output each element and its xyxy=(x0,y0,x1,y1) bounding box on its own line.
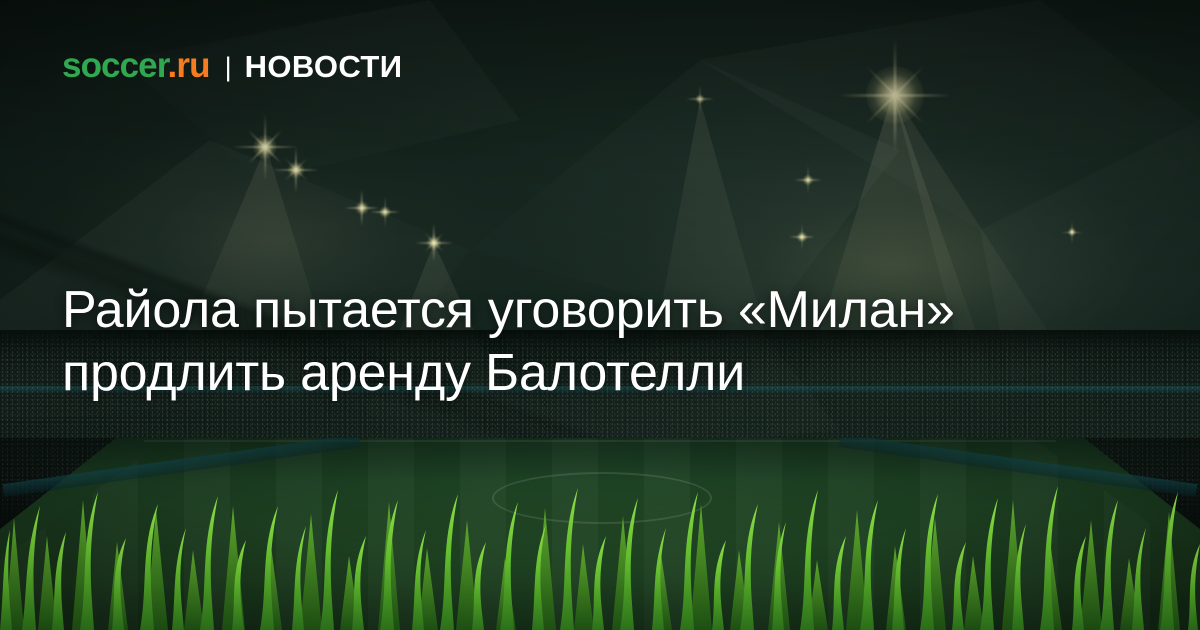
section-label: НОВОСТИ xyxy=(245,51,403,82)
card-content: soccer.ru | НОВОСТИ Райола пытается угов… xyxy=(0,0,1200,630)
logo-tld: .ru xyxy=(168,46,210,85)
news-share-card: soccer.ru | НОВОСТИ Райола пытается угов… xyxy=(0,0,1200,630)
logo-name: soccer xyxy=(62,46,168,85)
logo-text: soccer.ru xyxy=(62,48,210,83)
site-logo[interactable]: soccer.ru | НОВОСТИ xyxy=(62,48,402,83)
logo-separator: | xyxy=(225,54,232,81)
page-title: Райола пытается уговорить «Милан» продли… xyxy=(62,279,1152,406)
